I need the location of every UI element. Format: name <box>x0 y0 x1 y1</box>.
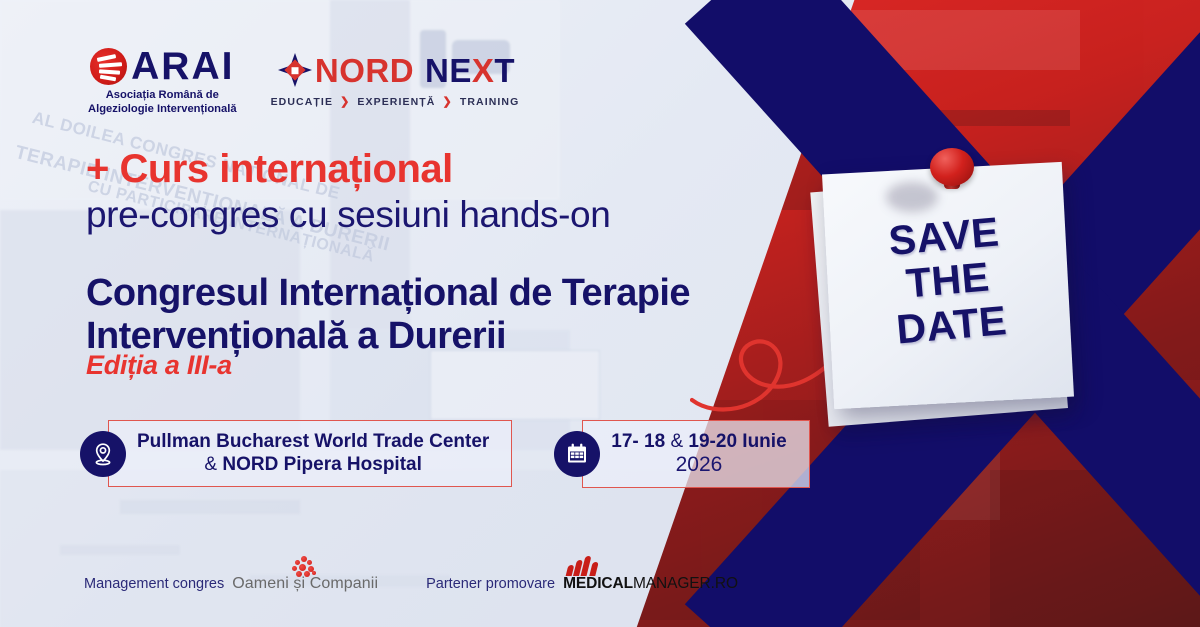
arai-subtitle: Asociația Română de Algeziologie Interve… <box>88 88 237 117</box>
arai-wordmark: ARAI <box>131 49 234 84</box>
date-line-1: 17- 18 & 19-20 Iunie <box>611 430 786 453</box>
footer-partners: Management congres Oameni și Companii Pa… <box>84 575 738 593</box>
header-logos: ARAI Asociația Română de Algeziologie In… <box>88 48 519 117</box>
save-the-date-note: SAVE THE DATE <box>828 168 1068 403</box>
promo-partner-name: MEDICALMANAGER.RO <box>563 575 738 593</box>
nordnext-word-ne: NE <box>425 52 472 89</box>
medicalmanager-logo: MEDICALMANAGER.RO <box>563 575 738 593</box>
kicker-red-text: + Curs internațional <box>86 148 453 190</box>
location-info: Pullman Bucharest World Trade Center & N… <box>80 420 512 487</box>
dot-cluster-logo-icon <box>292 556 318 577</box>
nordnext-logo: NORDNEXT EDUCAȚIE ❯ EXPERIENȚĂ ❯ TRAININ… <box>271 48 520 108</box>
oameni-si-companii-logo: Oameni și Companii <box>232 575 378 593</box>
arai-subtitle-line-2: Algeziologie Intervențională <box>88 102 237 116</box>
compass-star-icon <box>275 50 315 90</box>
chevron-right-icon: ❯ <box>340 95 350 108</box>
date-box: 17- 18 & 19-20 Iunie 2026 <box>582 420 809 488</box>
nordnext-word-x: X <box>472 52 495 89</box>
flame-swoosh-logo-icon <box>567 554 601 576</box>
chevron-right-icon: ❯ <box>443 95 453 108</box>
location-line-1: Pullman Bucharest World Trade Center <box>137 430 489 453</box>
pushpin-icon <box>924 144 978 198</box>
kicker-navy-text: pre-congres cu sesiuni hands-on <box>86 195 610 236</box>
map-pin-icon <box>80 431 126 477</box>
management-label: Management congres <box>84 576 224 592</box>
promo-partner-thin: MANAGER.RO <box>633 575 738 592</box>
nordnext-word-t: T <box>494 52 515 89</box>
nordnext-tagline: EDUCAȚIE ❯ EXPERIENȚĂ ❯ TRAINING <box>271 95 520 108</box>
location-line-2-name: NORD Pipera Hospital <box>222 454 422 475</box>
management-partner-name: Oameni și Companii <box>232 575 378 593</box>
nordnext-word-nord: NORD <box>315 52 414 89</box>
location-line-2-prefix: & <box>204 454 222 475</box>
location-line-2: & NORD Pipera Hospital <box>137 453 489 476</box>
location-box: Pullman Bucharest World Trade Center & N… <box>108 420 512 487</box>
promo-partner-group: Partener promovare MEDICALMANAGER.RO <box>426 575 738 593</box>
date-year: 2026 <box>611 453 786 477</box>
promo-partner-bold: MEDICAL <box>563 575 633 592</box>
nordnext-tagline-item-2: TRAINING <box>460 96 520 108</box>
edition-label: Ediția a III-a <box>86 350 232 381</box>
nordnext-tagline-item-1: EXPERIENȚĂ <box>357 96 435 108</box>
arai-subtitle-line-1: Asociația Română de <box>88 88 237 102</box>
date-range-a: 17- 18 <box>611 431 665 452</box>
nordnext-wordmark: NORDNEXT <box>315 54 515 87</box>
promo-label: Partener promovare <box>426 576 555 592</box>
management-partner-group: Management congres Oameni și Companii <box>84 575 378 593</box>
banner-stage: AL DOILEA CONGRES NAȚIONAL DE TERAPIE IN… <box>0 0 1200 627</box>
note-text: SAVE THE DATE <box>822 204 1073 357</box>
nordnext-tagline-item-0: EDUCAȚIE <box>271 96 333 108</box>
arai-logo: ARAI Asociația Română de Algeziologie In… <box>88 48 237 117</box>
arai-hand-mark-icon <box>90 48 127 85</box>
info-boxes: Pullman Bucharest World Trade Center & N… <box>80 420 810 488</box>
note-paper-front: SAVE THE DATE <box>822 162 1074 409</box>
date-info: 17- 18 & 19-20 Iunie 2026 <box>554 420 809 488</box>
date-separator: & <box>670 431 683 452</box>
date-range-b: 19-20 Iunie <box>688 431 786 452</box>
